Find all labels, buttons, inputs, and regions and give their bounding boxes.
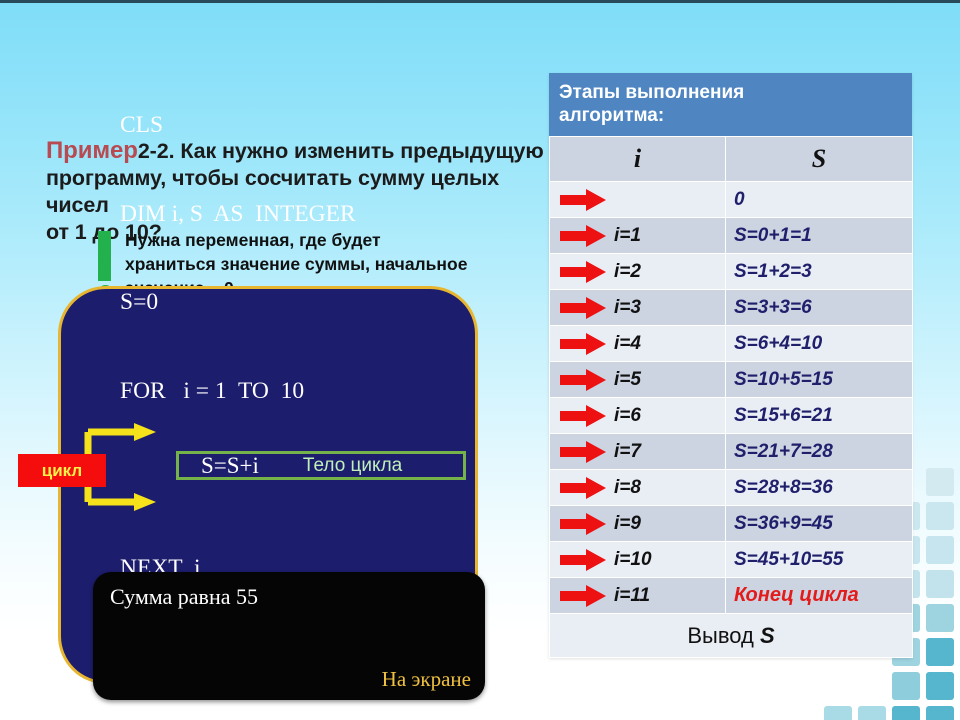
console-output-text: Сумма равна 55 bbox=[110, 584, 258, 610]
decorative-square bbox=[926, 604, 954, 632]
right-arrow-icon bbox=[560, 189, 606, 211]
right-arrow-icon bbox=[560, 297, 606, 319]
steps-table: i S 0 i=1 S=0+1=1 i=2 bbox=[549, 136, 913, 658]
decorative-square bbox=[824, 706, 852, 720]
table-row: i=9 S=36+9=45 bbox=[550, 506, 913, 542]
right-arrow-icon bbox=[560, 369, 606, 391]
step-s-cell: S=3+3=6 bbox=[726, 290, 913, 326]
step-s-value: S=21+7=28 bbox=[734, 441, 833, 462]
step-s-value: 0 bbox=[734, 189, 745, 210]
step-i-cell bbox=[550, 182, 726, 218]
step-i-cell: i=11 bbox=[550, 578, 726, 614]
decorative-square bbox=[824, 672, 852, 700]
decorative-square bbox=[892, 672, 920, 700]
table-row: i=8 S=28+8=36 bbox=[550, 470, 913, 506]
cycle-badge: цикл bbox=[18, 454, 106, 487]
table-row: i=5 S=10+5=15 bbox=[550, 362, 913, 398]
slide-canvas: Пример2-2. Как нужно изменить предыдущую… bbox=[0, 0, 960, 720]
loop-body-highlight: S=S+i Тело цикла bbox=[176, 451, 466, 480]
step-s-value: S=15+6=21 bbox=[734, 405, 833, 426]
step-s-cell: S=36+9=45 bbox=[726, 506, 913, 542]
right-arrow-icon bbox=[560, 549, 606, 571]
steps-table-title-line2: алгоритма: bbox=[559, 104, 902, 127]
step-i-cell: i=8 bbox=[550, 470, 726, 506]
steps-table-header-s: S bbox=[726, 137, 913, 182]
loop-body-label: Тело цикла bbox=[303, 455, 402, 477]
right-arrow-icon bbox=[560, 585, 606, 607]
step-s-value: S=6+4=10 bbox=[734, 333, 822, 354]
right-arrow-icon bbox=[560, 441, 606, 463]
step-s-cell: Конец цикла bbox=[726, 578, 913, 614]
step-i-value: i=4 bbox=[614, 333, 641, 355]
decorative-square bbox=[926, 638, 954, 666]
table-row: i=4 S=6+4=10 bbox=[550, 326, 913, 362]
table-row: 0 bbox=[550, 182, 913, 218]
step-i-value: i=1 bbox=[614, 225, 641, 247]
step-i-value: i=7 bbox=[614, 441, 641, 463]
step-i-cell: i=9 bbox=[550, 506, 726, 542]
table-row: i=3 S=3+3=6 bbox=[550, 290, 913, 326]
step-i-value: i=9 bbox=[614, 513, 641, 535]
right-arrow-icon bbox=[560, 513, 606, 535]
step-i-value: i=8 bbox=[614, 477, 641, 499]
step-s-cell: S=6+4=10 bbox=[726, 326, 913, 362]
code-line-cls: CLS bbox=[120, 111, 374, 141]
step-s-value: S=45+10=55 bbox=[734, 549, 843, 570]
console-screen-label: На экране bbox=[382, 667, 471, 692]
step-i-cell: i=5 bbox=[550, 362, 726, 398]
table-row: i=6 S=15+6=21 bbox=[550, 398, 913, 434]
step-i-cell: i=7 bbox=[550, 434, 726, 470]
code-line-dim: DIM i, S AS INTEGER bbox=[120, 200, 374, 230]
step-s-cell: S=0+1=1 bbox=[726, 218, 913, 254]
right-arrow-icon bbox=[560, 405, 606, 427]
right-arrow-icon bbox=[560, 333, 606, 355]
step-i-cell: i=2 bbox=[550, 254, 726, 290]
decorative-square bbox=[926, 502, 954, 530]
step-i-value: i=3 bbox=[614, 297, 641, 319]
step-i-value: i=6 bbox=[614, 405, 641, 427]
step-i-value: i=5 bbox=[614, 369, 641, 391]
right-arrow-icon bbox=[560, 225, 606, 247]
steps-table-footer-var: S bbox=[760, 623, 775, 648]
decorative-square bbox=[858, 672, 886, 700]
steps-table-footer-row: Вывод S bbox=[550, 614, 913, 658]
decorative-square bbox=[926, 536, 954, 564]
decorative-square bbox=[892, 706, 920, 720]
step-s-value: S=36+9=45 bbox=[734, 513, 833, 534]
right-arrow-icon bbox=[560, 261, 606, 283]
table-row: i=2 S=1+2=3 bbox=[550, 254, 913, 290]
decorative-square bbox=[858, 706, 886, 720]
step-i-cell: i=4 bbox=[550, 326, 726, 362]
step-s-cell: S=15+6=21 bbox=[726, 398, 913, 434]
step-s-cell: S=21+7=28 bbox=[726, 434, 913, 470]
step-s-value: S=3+3=6 bbox=[734, 297, 812, 318]
cycle-badge-label: цикл bbox=[42, 461, 82, 481]
code-line-init: S=0 bbox=[120, 288, 374, 318]
code-line-for: FOR i = 1 TO 10 bbox=[120, 377, 374, 407]
step-s-value: S=10+5=15 bbox=[734, 369, 833, 390]
step-s-cell: S=10+5=15 bbox=[726, 362, 913, 398]
step-s-value: Конец цикла bbox=[734, 584, 859, 606]
step-i-value: i=11 bbox=[614, 585, 650, 607]
steps-table-title-line1: Этапы выполнения bbox=[559, 81, 902, 104]
table-row: i=10 S=45+10=55 bbox=[550, 542, 913, 578]
step-s-cell: S=45+10=55 bbox=[726, 542, 913, 578]
step-i-value: i=2 bbox=[614, 261, 641, 283]
loop-body-code: S=S+i bbox=[201, 453, 259, 479]
steps-table-panel: Этапы выполнения алгоритма: i S 0 i=1 bbox=[549, 73, 912, 658]
table-row: i=1 S=0+1=1 bbox=[550, 218, 913, 254]
decorative-square bbox=[926, 570, 954, 598]
step-i-cell: i=1 bbox=[550, 218, 726, 254]
green-bar-marker bbox=[98, 231, 111, 281]
step-i-cell: i=10 bbox=[550, 542, 726, 578]
steps-table-header-row: i S bbox=[550, 137, 913, 182]
steps-table-title: Этапы выполнения алгоритма: bbox=[549, 73, 912, 136]
step-i-cell: i=6 bbox=[550, 398, 726, 434]
step-s-cell: 0 bbox=[726, 182, 913, 218]
table-row: i=7 S=21+7=28 bbox=[550, 434, 913, 470]
step-s-value: S=28+8=36 bbox=[734, 477, 833, 498]
decorative-square bbox=[926, 672, 954, 700]
step-s-value: S=1+2=3 bbox=[734, 261, 812, 282]
step-i-value: i=10 bbox=[614, 549, 652, 571]
steps-table-footer-prefix: Вывод bbox=[687, 623, 760, 648]
decorative-square bbox=[926, 468, 954, 496]
steps-table-footer-cell: Вывод S bbox=[550, 614, 913, 658]
output-console: Сумма равна 55 На экране bbox=[93, 572, 485, 700]
steps-table-header-i: i bbox=[550, 137, 726, 182]
table-row: i=11 Конец цикла bbox=[550, 578, 913, 614]
step-s-cell: S=28+8=36 bbox=[726, 470, 913, 506]
step-s-value: S=0+1=1 bbox=[734, 225, 812, 246]
right-arrow-icon bbox=[560, 477, 606, 499]
step-s-cell: S=1+2=3 bbox=[726, 254, 913, 290]
step-i-cell: i=3 bbox=[550, 290, 726, 326]
decorative-square bbox=[926, 706, 954, 720]
